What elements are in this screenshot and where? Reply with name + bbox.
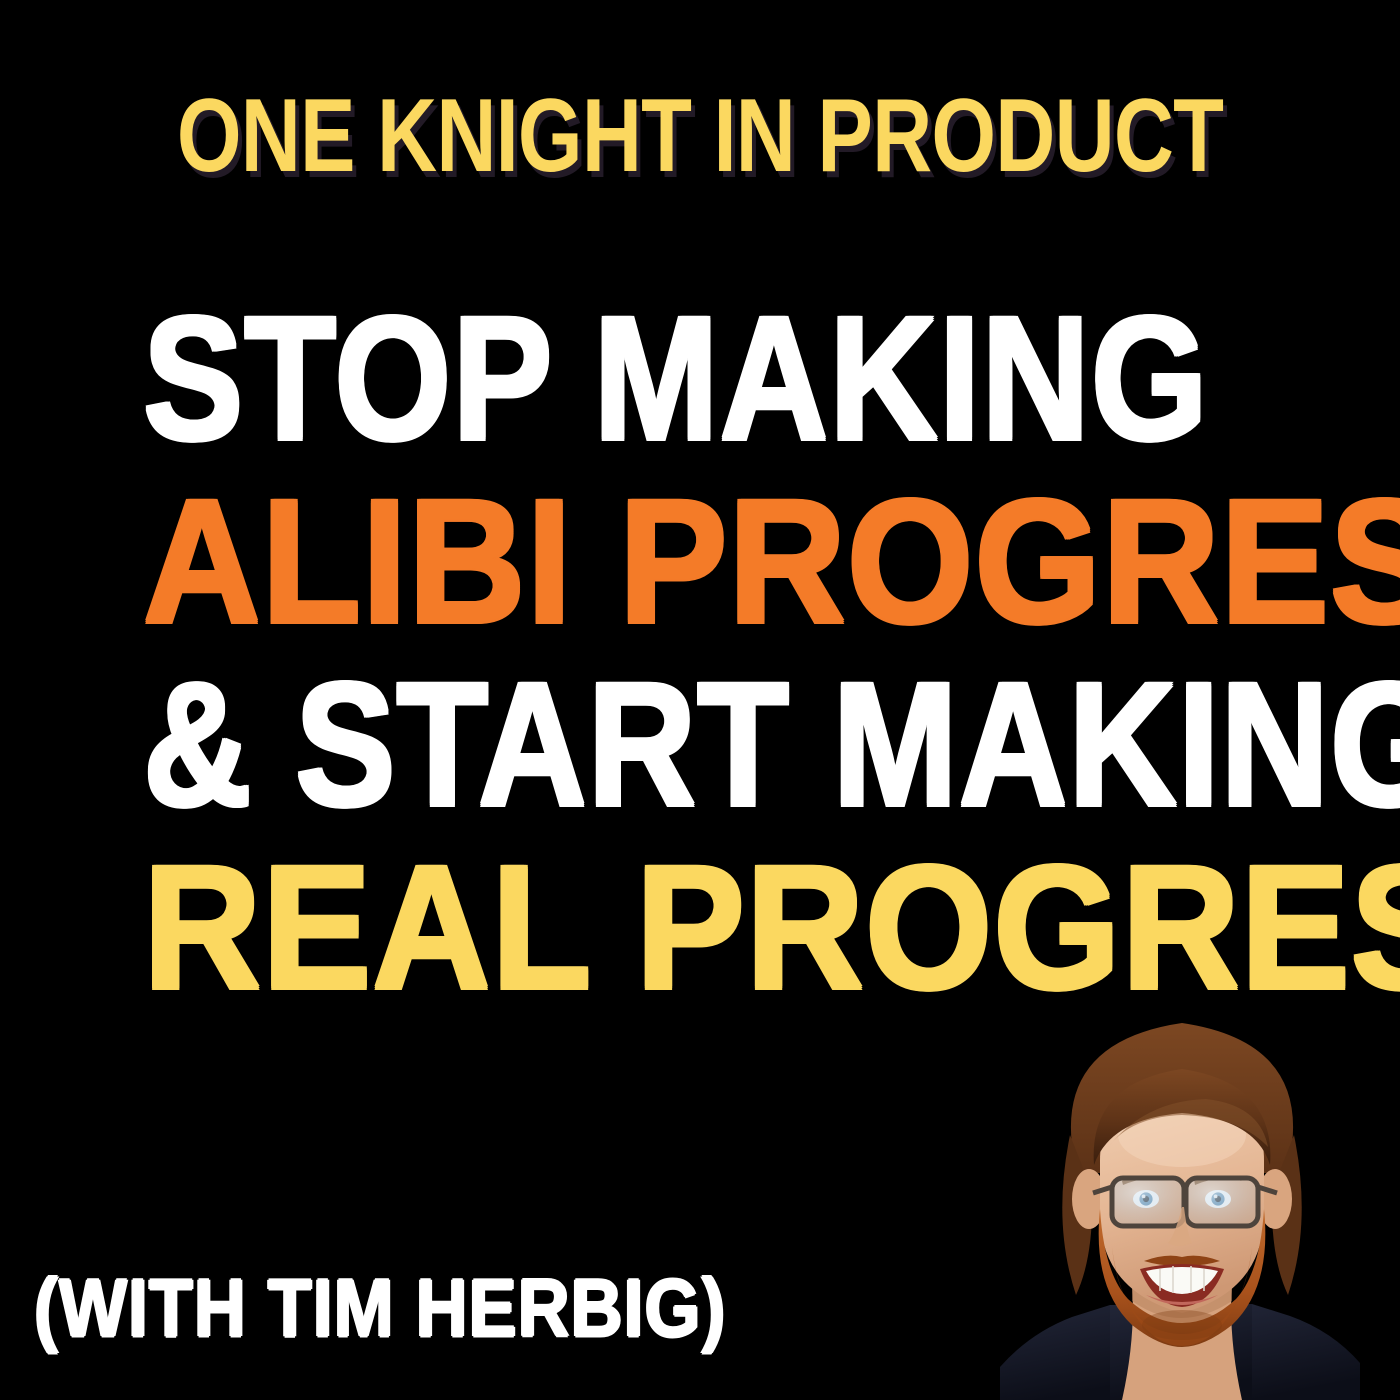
headline-line-4: REAL PROGRESS [143,837,1240,1020]
headline-line-1: STOP MAKING [143,288,1152,471]
guest-headshot-photo [960,995,1400,1400]
guest-portrait-svg [960,995,1400,1400]
guest-credit-label: (WITH TIM HERBIG) [34,1268,726,1350]
headline-line-3: & START MAKING [143,654,1152,837]
headline-line-2: ALIBI PROGRESS [143,471,1235,654]
episode-headline: STOP MAKING ALIBI PROGRESS & START MAKIN… [143,288,1323,1020]
podcast-show-title: ONE KNIGHT IN PRODUCT [140,84,1260,188]
podcast-cover-art: ONE KNIGHT IN PRODUCT STOP MAKING ALIBI … [0,0,1400,1400]
